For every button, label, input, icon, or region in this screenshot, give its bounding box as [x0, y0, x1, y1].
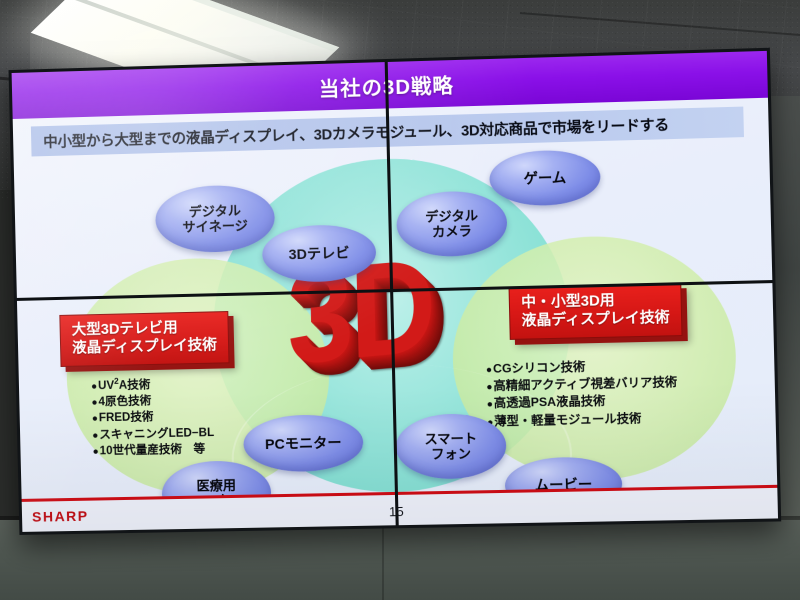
callout-mid-small-3d-lcd-tech: 中・小型3D用 液晶ディスプレイ技術: [509, 283, 683, 340]
callout-line-2: 液晶ディスプレイ技術: [521, 310, 669, 331]
bullet-list-left: ●UV2A技術 ●4原色技術 ●FRED技術 ●スキャニングLED−BL ●10…: [91, 374, 215, 460]
bullet-text: FRED技術: [99, 412, 154, 425]
bullet-list-left-items: ●UV2A技術 ●4原色技術 ●FRED技術 ●スキャニングLED−BL ●10…: [91, 374, 215, 460]
superscript-2: 2: [114, 377, 119, 386]
bullet-text: 薄型・軽量モジュール技術: [494, 411, 641, 428]
photo-scene: 当社の3D戦略 中小型から大型までの液晶ディスプレイ、3Dカメラモジュール、3D…: [0, 0, 800, 600]
slide-subtitle: 中小型から大型までの液晶ディスプレイ、3Dカメラモジュール、3D対応商品で市場を…: [31, 113, 669, 152]
sharp-brand-logo: SHARP: [32, 508, 89, 525]
bullet-text: 10世代量産技術 等: [100, 443, 206, 457]
bullet-dot-icon: ●: [92, 430, 98, 441]
bullet-dot-icon: ●: [487, 399, 493, 410]
bullet-dot-icon: ●: [486, 365, 492, 376]
callout-large-3d-tv-lcd-tech: 大型3Dテレビ用 液晶ディスプレイ技術: [59, 311, 229, 367]
bullet-dot-icon: ●: [91, 381, 97, 392]
wall-panel-seam: [382, 520, 384, 600]
video-wall-display[interactable]: 当社の3D戦略 中小型から大型までの液晶ディスプレイ、3Dカメラモジュール、3D…: [9, 48, 782, 535]
callout-line-2: 液晶ディスプレイ技術: [72, 337, 217, 358]
bullet-text: スキャニングLED−BL: [99, 427, 214, 441]
bullet-text: 4原色技術: [98, 395, 151, 408]
bullet-dot-icon: ●: [93, 446, 99, 457]
bullet-text: UV2A技術: [98, 379, 150, 392]
bullet-text: CGシリコン技術: [493, 360, 586, 376]
bullet-text: 高精細アクティブ視差バリア技術: [493, 375, 677, 393]
product-game: ゲーム: [489, 149, 601, 207]
bullet-dot-icon: ●: [486, 382, 492, 393]
bullet-dot-icon: ●: [91, 397, 97, 408]
bullet-list-right: ●CGシリコン技術 ●高精細アクティブ視差バリア技術 ●高透過PSA液晶技術 ●…: [486, 357, 679, 431]
bullet-dot-icon: ●: [92, 414, 98, 425]
bullet-list-right-items: ●CGシリコン技術 ●高精細アクティブ視差バリア技術 ●高透過PSA液晶技術 ●…: [486, 357, 679, 431]
bullet-text: 高透過PSA液晶技術: [494, 394, 606, 411]
list-item: ●10世代量産技術 等: [92, 441, 214, 460]
